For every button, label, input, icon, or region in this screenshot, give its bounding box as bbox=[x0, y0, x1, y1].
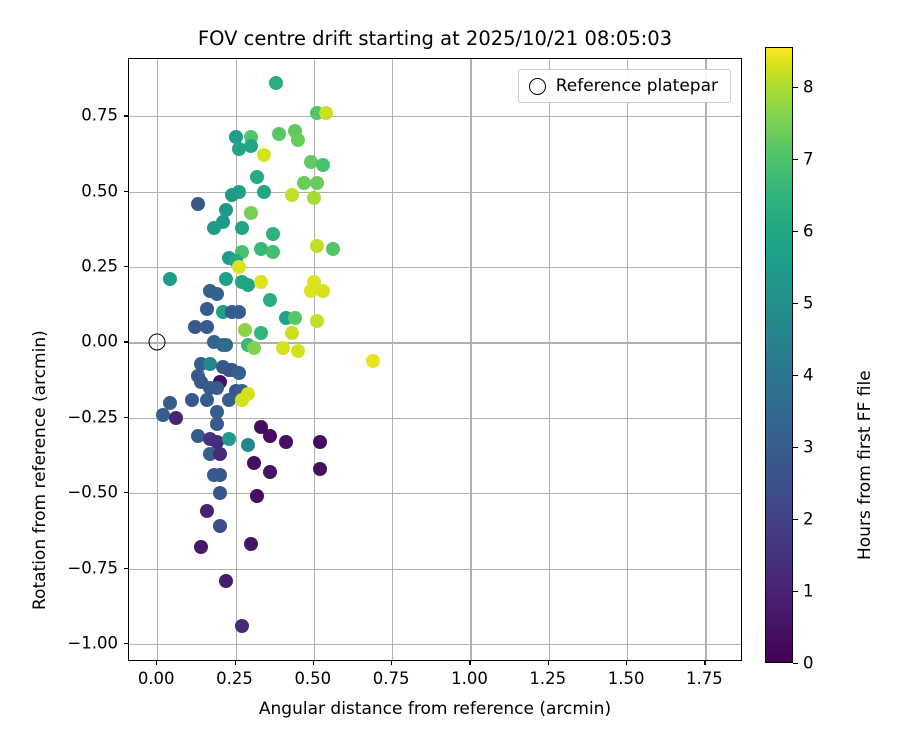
plot-axes: Reference platepar bbox=[128, 58, 742, 661]
x-tick-label: 0.75 bbox=[373, 669, 410, 688]
scatter-point bbox=[263, 429, 277, 443]
scatter-point bbox=[285, 326, 299, 340]
legend-reference-circle-icon bbox=[529, 78, 546, 95]
scatter-point bbox=[244, 139, 258, 153]
colorbar-tick-mark bbox=[793, 375, 798, 376]
colorbar-tick-mark bbox=[793, 663, 798, 664]
colorbar-tick-label: 7 bbox=[803, 149, 814, 168]
scatter-point bbox=[232, 366, 246, 380]
scatter-point bbox=[213, 519, 227, 533]
x-tick-mark bbox=[469, 661, 470, 665]
colorbar-tick-label: 4 bbox=[803, 365, 814, 384]
scatter-point bbox=[247, 456, 261, 470]
colorbar-tick-mark bbox=[793, 159, 798, 160]
scatter-point bbox=[319, 106, 333, 120]
scatter-point bbox=[254, 275, 268, 289]
scatter-point bbox=[288, 311, 302, 325]
colorbar-tick-label: 0 bbox=[803, 654, 814, 673]
scatter-point bbox=[310, 239, 324, 253]
scatter-point bbox=[213, 447, 227, 461]
scatter-point bbox=[244, 206, 258, 220]
colorbar-tick-mark bbox=[793, 519, 798, 520]
scatter-point bbox=[235, 619, 249, 633]
x-tick-mark bbox=[156, 661, 157, 665]
colorbar-tick-mark bbox=[793, 591, 798, 592]
scatter-point bbox=[257, 185, 271, 199]
y-tick-label: −0.75 bbox=[67, 558, 118, 577]
scatter-point bbox=[191, 197, 205, 211]
x-tick-label: 0.50 bbox=[294, 669, 331, 688]
colorbar-tick-mark bbox=[793, 87, 798, 88]
scatter-point bbox=[263, 465, 277, 479]
y-tick-label: 0.50 bbox=[81, 181, 118, 200]
scatter-point bbox=[307, 191, 321, 205]
x-tick-mark bbox=[626, 661, 627, 665]
scatter-point bbox=[316, 284, 330, 298]
scatter-point bbox=[291, 133, 305, 147]
colorbar-tick-label: 1 bbox=[803, 581, 814, 600]
scatter-point bbox=[291, 344, 305, 358]
y-tick-label: −0.25 bbox=[67, 407, 118, 426]
figure-canvas: FOV centre drift starting at 2025/10/21 … bbox=[0, 0, 900, 750]
scatter-point bbox=[304, 284, 318, 298]
legend-label-reference: Reference platepar bbox=[556, 76, 718, 96]
colorbar-tick-label: 3 bbox=[803, 437, 814, 456]
x-tick-mark bbox=[313, 661, 314, 665]
x-tick-label: 0.00 bbox=[138, 669, 175, 688]
y-axis-label: Rotation from reference (arcmin) bbox=[30, 330, 50, 610]
colorbar-label: Hours from first FF file bbox=[855, 370, 875, 560]
scatter-point bbox=[257, 148, 271, 162]
scatter-point bbox=[200, 320, 214, 334]
colorbar-tick-mark bbox=[793, 303, 798, 304]
legend-box: Reference platepar bbox=[518, 69, 731, 103]
scatter-point bbox=[310, 176, 324, 190]
scatter-point bbox=[250, 489, 264, 503]
scatter-point bbox=[200, 393, 214, 407]
y-tick-label: −1.00 bbox=[67, 633, 118, 652]
scatter-point bbox=[163, 272, 177, 286]
scatter-point bbox=[210, 381, 224, 395]
scatter-point bbox=[279, 435, 293, 449]
scatter-point bbox=[285, 188, 299, 202]
scatter-point bbox=[219, 272, 233, 286]
scatter-point bbox=[207, 221, 221, 235]
x-tick-label: 0.25 bbox=[216, 669, 253, 688]
scatter-point bbox=[266, 227, 280, 241]
y-tick-label: 0.00 bbox=[81, 332, 118, 351]
y-tick-label: 0.25 bbox=[81, 257, 118, 276]
scatter-point bbox=[241, 438, 255, 452]
x-tick-label: 1.50 bbox=[608, 669, 645, 688]
y-tick-mark bbox=[124, 115, 128, 116]
colorbar bbox=[765, 47, 793, 663]
x-axis-label: Angular distance from reference (arcmin) bbox=[128, 699, 742, 719]
y-tick-mark bbox=[124, 643, 128, 644]
scatter-point bbox=[313, 435, 327, 449]
y-tick-mark bbox=[124, 417, 128, 418]
scatter-point bbox=[316, 158, 330, 172]
y-tick-label: 0.75 bbox=[81, 106, 118, 125]
x-tick-label: 1.25 bbox=[529, 669, 566, 688]
scatter-point bbox=[272, 127, 286, 141]
scatter-point bbox=[235, 393, 249, 407]
scatter-point bbox=[232, 260, 246, 274]
scatter-data-layer bbox=[129, 59, 741, 660]
reference-platepar-marker bbox=[149, 334, 166, 351]
x-tick-mark bbox=[704, 661, 705, 665]
scatter-point bbox=[366, 354, 380, 368]
scatter-point bbox=[213, 486, 227, 500]
colorbar-tick-label: 2 bbox=[803, 509, 814, 528]
scatter-point bbox=[225, 188, 239, 202]
scatter-point bbox=[219, 338, 233, 352]
scatter-point bbox=[210, 417, 224, 431]
y-tick-mark bbox=[124, 341, 128, 342]
scatter-point bbox=[200, 302, 214, 316]
scatter-point bbox=[169, 411, 183, 425]
y-tick-mark bbox=[124, 492, 128, 493]
scatter-point bbox=[185, 393, 199, 407]
scatter-point bbox=[210, 287, 224, 301]
scatter-point bbox=[263, 293, 277, 307]
x-tick-label: 1.75 bbox=[686, 669, 723, 688]
scatter-point bbox=[222, 432, 236, 446]
colorbar-tick-mark bbox=[793, 447, 798, 448]
x-tick-label: 1.00 bbox=[451, 669, 488, 688]
scatter-point bbox=[313, 462, 327, 476]
colorbar-tick-mark bbox=[793, 231, 798, 232]
colorbar-tick-label: 8 bbox=[803, 77, 814, 96]
scatter-point bbox=[247, 341, 261, 355]
scatter-point bbox=[232, 142, 246, 156]
scatter-point bbox=[219, 574, 233, 588]
x-tick-mark bbox=[391, 661, 392, 665]
scatter-point bbox=[238, 323, 252, 337]
y-tick-mark bbox=[124, 266, 128, 267]
scatter-point bbox=[194, 540, 208, 554]
scatter-point bbox=[244, 537, 258, 551]
scatter-point bbox=[310, 314, 324, 328]
x-tick-mark bbox=[548, 661, 549, 665]
scatter-point bbox=[235, 221, 249, 235]
scatter-point bbox=[250, 170, 264, 184]
scatter-point bbox=[266, 245, 280, 259]
scatter-point bbox=[254, 326, 268, 340]
scatter-point bbox=[213, 468, 227, 482]
y-tick-label: −0.50 bbox=[67, 483, 118, 502]
scatter-point bbox=[269, 76, 283, 90]
scatter-point bbox=[232, 305, 246, 319]
y-tick-mark bbox=[124, 568, 128, 569]
scatter-point bbox=[200, 504, 214, 518]
y-tick-mark bbox=[124, 191, 128, 192]
colorbar-tick-label: 6 bbox=[803, 221, 814, 240]
chart-title: FOV centre drift starting at 2025/10/21 … bbox=[128, 27, 742, 50]
scatter-point bbox=[276, 341, 290, 355]
x-tick-mark bbox=[235, 661, 236, 665]
scatter-point bbox=[326, 242, 340, 256]
colorbar-tick-label: 5 bbox=[803, 293, 814, 312]
